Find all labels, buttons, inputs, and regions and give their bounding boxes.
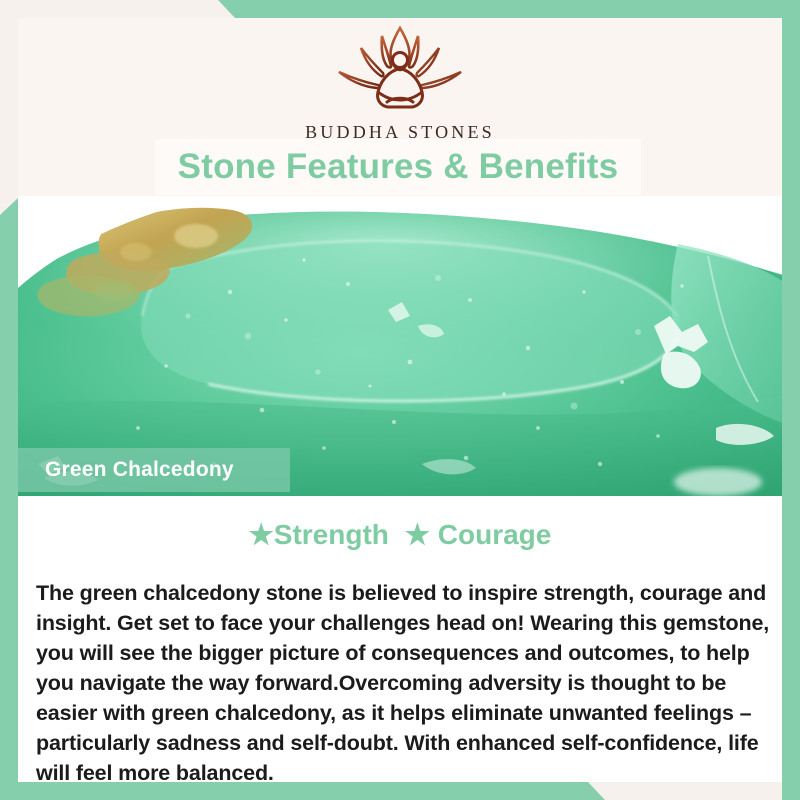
- frame-left-accent: [0, 198, 18, 800]
- title-banner: Stone Features & Benefits: [155, 139, 641, 195]
- keyword-courage: Courage: [438, 519, 552, 551]
- keyword-headings: ★Strength★ Courage: [18, 518, 782, 551]
- page-title: Stone Features & Benefits: [178, 147, 619, 187]
- lotus-meditation-figure-icon: [325, 22, 475, 118]
- brand-header: BUDDHA STONES: [0, 22, 800, 143]
- content-panel: ★Strength★ Courage The green chalcedony …: [18, 496, 782, 782]
- star-icon-courage: ★: [405, 518, 430, 551]
- frame-top-accent: [0, 0, 800, 18]
- star-icon-strength: ★: [249, 518, 274, 551]
- description-text: The green chalcedony stone is believed t…: [36, 578, 770, 788]
- poster-canvas: BUDDHA STONES: [0, 0, 800, 800]
- keyword-strength: Strength: [274, 519, 389, 551]
- stone-caption-band: Green Chalcedony: [18, 448, 290, 492]
- stone-name-label: Green Chalcedony: [18, 458, 234, 482]
